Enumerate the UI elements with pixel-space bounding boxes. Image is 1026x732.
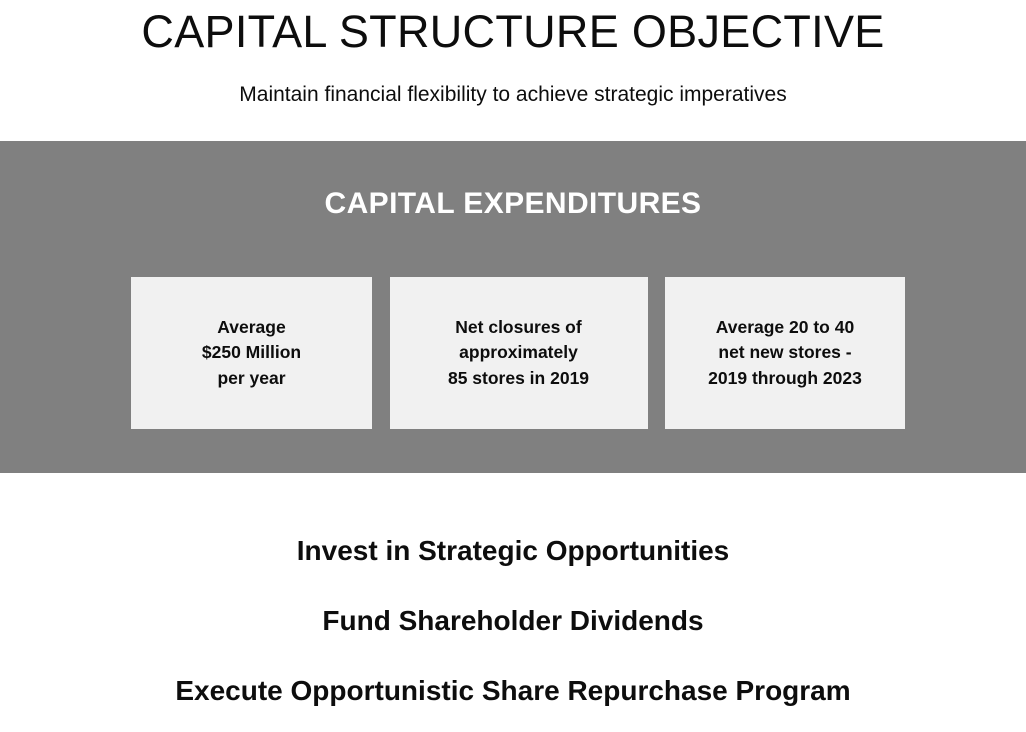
objective-statements: Invest in Strategic Opportunities Fund S… <box>0 473 1026 732</box>
capex-card-text: Average $250 Million per year <box>202 315 301 392</box>
objective-statement: Execute Opportunistic Share Repurchase P… <box>0 673 1026 709</box>
capital-expenditures-section: CAPITAL EXPENDITURES Average $250 Millio… <box>0 141 1026 473</box>
capex-card-text: Average 20 to 40 net new stores - 2019 t… <box>708 315 862 392</box>
capital-structure-objective-slide: CAPITAL STRUCTURE OBJECTIVE Maintain fin… <box>0 0 1026 732</box>
slide-header: CAPITAL STRUCTURE OBJECTIVE Maintain fin… <box>0 0 1026 141</box>
capital-expenditures-heading: CAPITAL EXPENDITURES <box>0 185 1026 223</box>
objective-statement: Fund Shareholder Dividends <box>0 603 1026 639</box>
objective-statement: Invest in Strategic Opportunities <box>0 533 1026 569</box>
capex-card-text: Net closures of approximately 85 stores … <box>448 315 589 392</box>
page-subtitle: Maintain financial flexibility to achiev… <box>0 81 1026 109</box>
capex-card: Average 20 to 40 net new stores - 2019 t… <box>665 277 905 429</box>
capex-card: Net closures of approximately 85 stores … <box>390 277 648 429</box>
capital-expenditures-card-row: Average $250 Million per year Net closur… <box>131 277 905 429</box>
capex-card: Average $250 Million per year <box>131 277 372 429</box>
page-title: CAPITAL STRUCTURE OBJECTIVE <box>0 4 1026 60</box>
